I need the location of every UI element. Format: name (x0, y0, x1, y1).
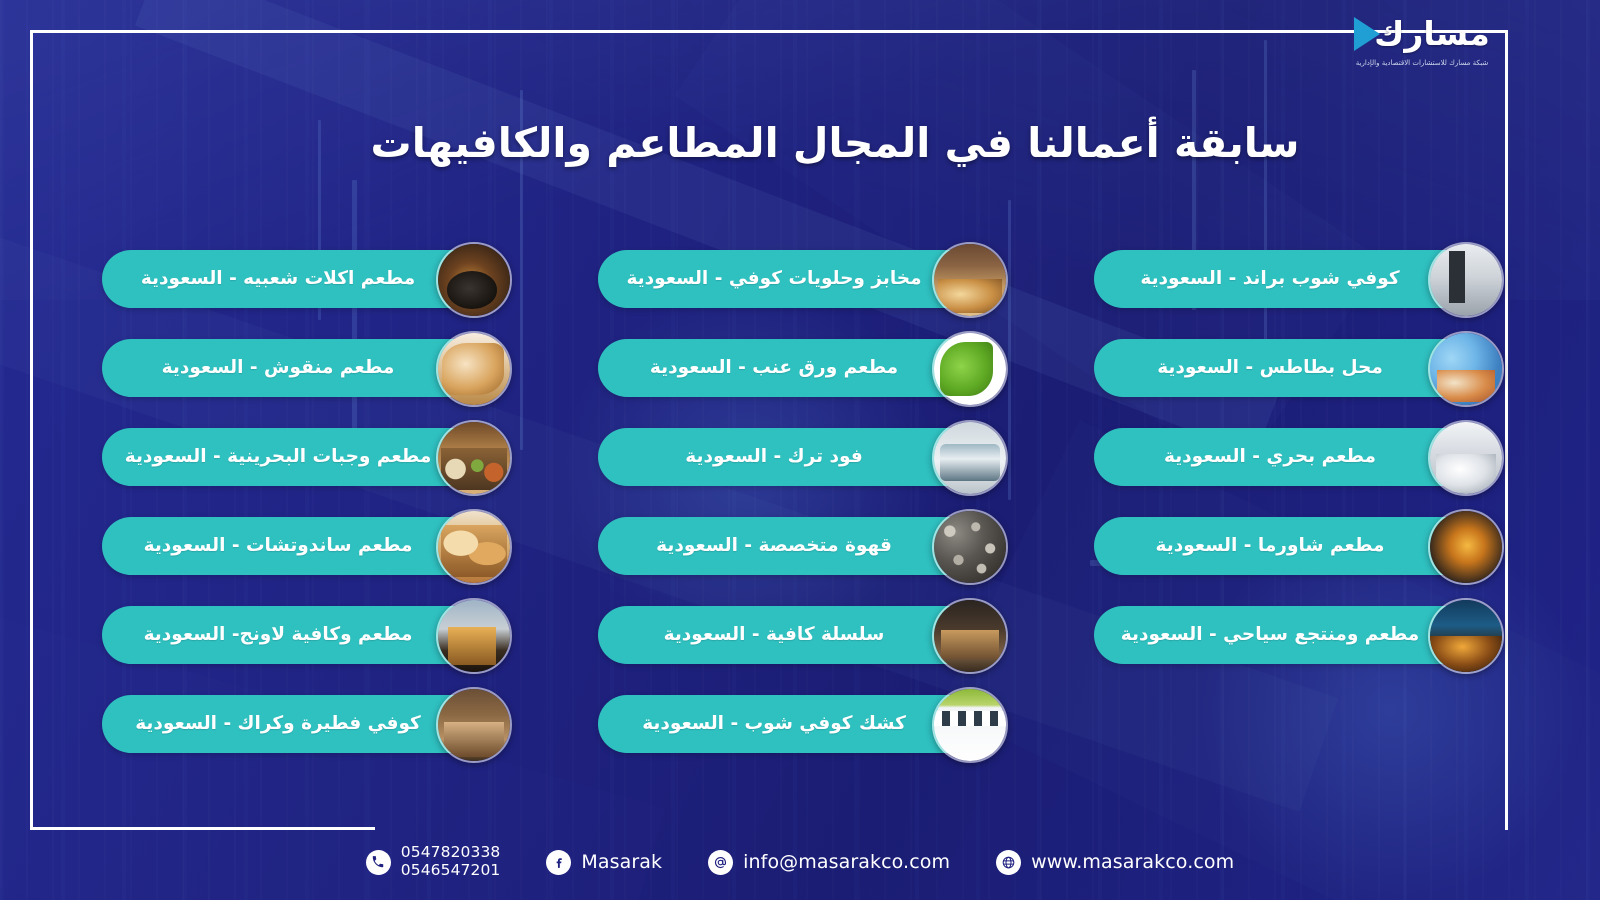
portfolio-item[interactable]: قهوة متخصصة - السعودية (598, 517, 1002, 577)
phone-icon (366, 850, 391, 875)
portfolio-item-label: فود ترك - السعودية (685, 448, 862, 467)
thumbnail-image (1430, 244, 1502, 316)
thumbnail-image (438, 511, 510, 583)
at-sign-icon (708, 850, 733, 875)
portfolio-item[interactable]: مطعم ساندوتشات - السعودية (102, 517, 506, 577)
portfolio-item[interactable]: كوفي شوب براند - السعودية (1094, 250, 1498, 310)
portfolio-item[interactable]: كوفي فطيرة وكراك - السعودية (102, 695, 506, 755)
facebook-handle: Masarak (581, 851, 662, 873)
sandwich-thumb (436, 509, 512, 585)
thumbnail-image (438, 689, 510, 761)
portfolio-item-label: كشك كوفي شوب - السعودية (642, 715, 906, 734)
thumbnail-image (1430, 511, 1502, 583)
manqoush-thumb (436, 331, 512, 407)
thumbnail-image (438, 333, 510, 405)
column-left: كوفي شوب براند - السعوديةمحل بطاطس - الس… (1094, 250, 1498, 810)
portfolio-item-label: سلسلة كافية - السعودية (664, 626, 885, 645)
resort-thumb (1428, 598, 1504, 674)
thumbnail-image (934, 689, 1006, 761)
portfolio-item-label: مطعم وجبات البحرينية - السعودية (125, 448, 432, 467)
phone-number-1: 0547820338 (401, 844, 501, 862)
website-url: www.masarakco.com (1031, 851, 1234, 873)
bahraini-meals-thumb (436, 420, 512, 496)
potato-shop-thumb (1428, 331, 1504, 407)
coffee-kiosk-thumb (932, 687, 1008, 763)
portfolio-item-label: مطعم ورق عنب - السعودية (650, 359, 898, 378)
portfolio-item[interactable]: محل بطاطس - السعودية (1094, 339, 1498, 399)
page-title: سابقة أعمالنا في المجال المطاعم والكافيه… (190, 118, 1480, 169)
portfolio-item-label: مخابز وحلويات كوفي - السعودية (626, 270, 921, 289)
portfolio-item-label: مطعم شاورما - السعودية (1156, 537, 1385, 556)
shawarma-thumb (1428, 509, 1504, 585)
company-logo: مسارك شبكة مسارك للاستشارات الاقتصادية و… (1292, 6, 1552, 72)
portfolio-item-label: مطعم منقوش - السعودية (162, 359, 395, 378)
logo-mark: مسارك (1354, 12, 1490, 56)
logo-tagline: شبكة مسارك للاستشارات الاقتصادية والإدار… (1356, 59, 1489, 67)
cafe-chain-thumb (932, 598, 1008, 674)
portfolio-item-label: مطعم ساندوتشات - السعودية (144, 537, 413, 556)
portfolio-item[interactable]: سلسلة كافية - السعودية (598, 606, 1002, 666)
phone-number-2: 0546547201 (401, 862, 501, 880)
portfolio-item-label: مطعم ومنتجع سياحي - السعودية (1121, 626, 1419, 645)
logo-arrow-icon (1354, 17, 1380, 51)
contact-bar: 0547820338 0546547201 Masarak info@masar… (0, 832, 1600, 892)
logo-wordmark: مسارك (1374, 17, 1490, 50)
portfolio-item-label: مطعم وكافية لاونج- السعودية (144, 626, 413, 645)
contact-website[interactable]: www.masarakco.com (996, 850, 1234, 875)
column-right: مطعم اكلات شعبيه - السعوديةمطعم منقوش - … (102, 250, 506, 810)
thumbnail-image (934, 511, 1006, 583)
portfolio-item[interactable]: مطعم وجبات البحرينية - السعودية (102, 428, 506, 488)
lounge-cafe-thumb (436, 598, 512, 674)
portfolio-item[interactable]: مطعم ومنتجع سياحي - السعودية (1094, 606, 1498, 666)
portfolio-item[interactable]: مطعم اكلات شعبيه - السعودية (102, 250, 506, 310)
food-truck-thumb (932, 420, 1008, 496)
portfolio-item[interactable]: فود ترك - السعودية (598, 428, 1002, 488)
contact-phone[interactable]: 0547820338 0546547201 (366, 844, 501, 880)
frame-top-border (30, 30, 1508, 33)
thumbnail-image (1430, 600, 1502, 672)
thumbnail-image (934, 333, 1006, 405)
thumbnail-image (438, 422, 510, 494)
portfolio-item-label: كوفي شوب براند - السعودية (1140, 270, 1399, 289)
thumbnail-image (438, 600, 510, 672)
column-middle: مخابز وحلويات كوفي - السعوديةمطعم ورق عن… (598, 250, 1002, 810)
seafood-thumb (1428, 420, 1504, 496)
thumbnail-image (1430, 422, 1502, 494)
portfolio-item[interactable]: كشك كوفي شوب - السعودية (598, 695, 1002, 755)
portfolio-item[interactable]: مطعم وكافية لاونج- السعودية (102, 606, 506, 666)
coffee-beans-thumb (932, 509, 1008, 585)
portfolio-item[interactable]: مطعم بحري - السعودية (1094, 428, 1498, 488)
portfolio-item[interactable]: مطعم شاورما - السعودية (1094, 517, 1498, 577)
fateera-karak-thumb (436, 687, 512, 763)
popular-food-thumb (436, 242, 512, 318)
portfolio-item-label: قهوة متخصصة - السعودية (656, 537, 892, 556)
portfolio-item[interactable]: مطعم منقوش - السعودية (102, 339, 506, 399)
portfolio-columns: مطعم اكلات شعبيه - السعوديةمطعم منقوش - … (0, 250, 1600, 810)
portfolio-item[interactable]: مطعم ورق عنب - السعودية (598, 339, 1002, 399)
portfolio-item[interactable]: مخابز وحلويات كوفي - السعودية (598, 250, 1002, 310)
thumbnail-image (934, 422, 1006, 494)
globe-icon (996, 850, 1021, 875)
coffee-shop-thumb (1428, 242, 1504, 318)
email-address: info@masarakco.com (743, 851, 950, 873)
thumbnail-image (438, 244, 510, 316)
portfolio-item-label: مطعم اكلات شعبيه - السعودية (141, 270, 415, 289)
facebook-icon (546, 850, 571, 875)
contact-email[interactable]: info@masarakco.com (708, 850, 950, 875)
portfolio-item-label: كوفي فطيرة وكراك - السعودية (135, 715, 421, 734)
phone-numbers: 0547820338 0546547201 (401, 844, 501, 880)
bakery-sweets-thumb (932, 242, 1008, 318)
frame-bottom-border (30, 827, 375, 830)
contact-facebook[interactable]: Masarak (546, 850, 662, 875)
portfolio-item-label: مطعم بحري - السعودية (1164, 448, 1376, 467)
portfolio-item-label: محل بطاطس - السعودية (1157, 359, 1383, 378)
thumbnail-image (1430, 333, 1502, 405)
grape-leaf-thumb (932, 331, 1008, 407)
thumbnail-image (934, 244, 1006, 316)
thumbnail-image (934, 600, 1006, 672)
